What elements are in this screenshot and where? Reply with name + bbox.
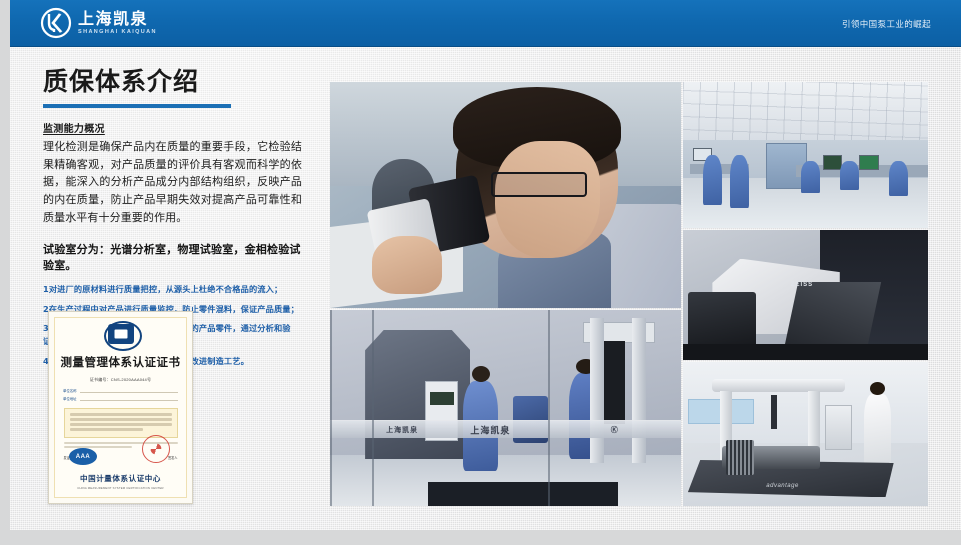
logo-wordmark: 上海凯泉 SHANGHAI KAIQUAN bbox=[78, 11, 157, 36]
certificate-title: 测量管理体系认证证书 bbox=[61, 354, 181, 370]
text-line bbox=[70, 423, 172, 426]
list-item: 1对进厂的原材料进行质量把控，从源头上杜绝不合格品的流入； bbox=[43, 283, 302, 296]
certificate-image: 测量管理体系认证证书 证书编号：CNS-2020AAA044号 单位名称 单位地… bbox=[48, 311, 193, 504]
certificate-footer: 中国计量体系认证中心 CHINA MEASUREMENT SYSTEM CERT… bbox=[55, 473, 186, 490]
photo-scene: ZEISS bbox=[683, 230, 928, 360]
certificate-number: 证书编号：CNS-2020AAA044号 bbox=[90, 377, 151, 383]
logo-name-cn: 上海凯泉 bbox=[78, 11, 157, 27]
advantage-brand-label: advantage bbox=[766, 483, 799, 489]
certificate-statement-box bbox=[64, 408, 178, 438]
glass-brand-icon: Ⓚ bbox=[611, 425, 619, 435]
certificate-field-value bbox=[80, 396, 178, 401]
photo-laboratory-room bbox=[683, 82, 928, 228]
zeiss-brand-label: ZEISS bbox=[791, 282, 813, 288]
logo-name-en: SHANGHAI KAIQUAN bbox=[78, 30, 157, 36]
photo-testing-lab: 上海凯泉 上海凯泉 Ⓚ bbox=[330, 310, 681, 506]
certificate-emblem-icon bbox=[108, 324, 134, 344]
photo-zeiss-microscope: ZEISS bbox=[683, 230, 928, 360]
laboratory-types-line: 试验室分为：光谱分析室，物理试验室，金相检验试验室。 bbox=[43, 241, 302, 273]
header-bar: 上海凯泉 SHANGHAI KAIQUAN 引领中国泵工业的崛起 bbox=[10, 0, 961, 47]
certificate-issuer-cn: 中国计量体系认证中心 bbox=[55, 473, 186, 484]
kaiquan-k-mark-icon bbox=[40, 7, 72, 39]
photo-scene bbox=[683, 82, 928, 228]
certificate-field-label: 单位地址 bbox=[63, 396, 77, 401]
title-underline-rule bbox=[43, 104, 231, 108]
glass-brand-label: 上海凯泉 bbox=[386, 425, 418, 435]
section-subheading: 监测能力概况 bbox=[43, 120, 302, 135]
certificate-issuer-en: CHINA MEASUREMENT SYSTEM CERTIFICATION C… bbox=[55, 486, 186, 490]
photo-scene bbox=[330, 82, 681, 308]
glass-brand-label: 上海凯泉 bbox=[470, 423, 510, 436]
slide-canvas: 上海凯泉 SHANGHAI KAIQUAN 引领中国泵工业的崛起 质保体系介绍 … bbox=[10, 0, 961, 530]
certificate-field-label: 单位名称 bbox=[63, 388, 77, 393]
photo-scene: advantage bbox=[683, 362, 928, 506]
text-line bbox=[70, 413, 172, 416]
body-paragraph: 理化检测是确保产品内在质量的重要手段，它检验结果精确客观，对产品质量的评价具有客… bbox=[43, 138, 302, 227]
red-official-seal-icon bbox=[142, 435, 170, 463]
glass-partition-bar: 上海凯泉 上海凯泉 Ⓚ bbox=[330, 420, 681, 439]
photo-collage: ZEISS 上海凯泉 上海凯泉 Ⓚ bbox=[330, 82, 928, 506]
certificate-field-row: 单位名称 bbox=[63, 388, 178, 393]
certificate-field-value bbox=[80, 388, 178, 393]
certificate-inner: 测量管理体系认证证书 证书编号：CNS-2020AAA044号 单位名称 单位地… bbox=[54, 317, 187, 498]
text-line bbox=[64, 446, 132, 448]
certificate-signature: 签发人 bbox=[168, 455, 178, 460]
certificate-fields: 单位名称 单位地址 bbox=[55, 388, 186, 404]
company-logo: 上海凯泉 SHANGHAI KAIQUAN bbox=[40, 7, 157, 39]
photo-scene: 上海凯泉 上海凯泉 Ⓚ bbox=[330, 310, 681, 506]
certificate-field-row: 单位地址 bbox=[63, 396, 178, 401]
photo-microscope-operator bbox=[330, 82, 681, 308]
aaa-badge-icon: AAA bbox=[69, 448, 97, 465]
photo-cmm-machine: advantage bbox=[683, 362, 928, 506]
text-line bbox=[70, 418, 172, 421]
text-line bbox=[70, 428, 143, 431]
header-slogan: 引领中国泵工业的崛起 bbox=[842, 0, 931, 47]
slide-page: 上海凯泉 SHANGHAI KAIQUAN 引领中国泵工业的崛起 质保体系介绍 … bbox=[0, 0, 961, 545]
page-title: 质保体系介绍 bbox=[43, 68, 302, 97]
